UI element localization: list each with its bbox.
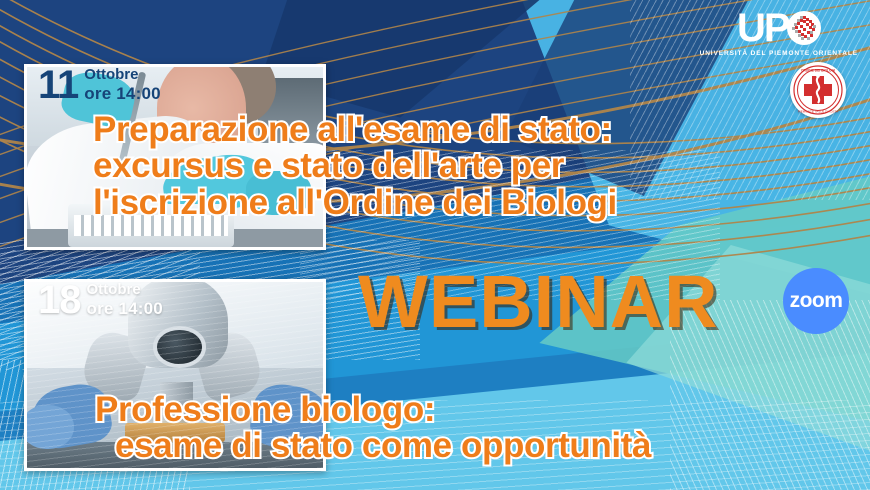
event-date-badge-2: 18 Ottobre ore 14:00	[38, 281, 163, 319]
headline-1-line-2: excursus e stato dell'arte per	[93, 148, 863, 184]
event-headline-2: Professione biologo: esame di stato come…	[95, 392, 865, 465]
zoom-logo-icon: zoom	[783, 268, 849, 334]
event-headline-1: Preparazione all'esame di stato: excursu…	[93, 112, 863, 221]
headline-1-line-3: l'iscrizione all'Ordine dei Biologi	[93, 185, 863, 221]
upo-wordmark: UP	[737, 8, 789, 48]
svg-text:ORDINE DEI BIOLOGI: ORDINE DEI BIOLOGI	[801, 69, 835, 73]
upo-logo: UP	[700, 8, 858, 57]
webinar-poster: 11 Ottobre ore 14:00 18 Ottobre ore 14:0…	[0, 0, 870, 490]
headline-2-line-1: Professione biologo:	[95, 392, 865, 428]
headline-2-line-2: esame di stato come opportunità	[95, 428, 865, 464]
upo-subtitle: UNIVERSITÀ DEL PIEMONTE ORIENTALE	[700, 50, 858, 57]
ordine-dei-biologi-seal-icon: ORDINE DEI BIOLOGI PIEMONTE VALLE D'AOST…	[790, 62, 846, 118]
event-time-1: ore 14:00	[84, 84, 160, 103]
headline-1-line-1: Preparazione all'esame di stato:	[93, 112, 863, 148]
event-day-2: 18	[38, 281, 81, 319]
piemonte-map-icon	[787, 11, 821, 45]
event-day-1: 11	[38, 66, 78, 104]
webinar-label: WEBINAR	[358, 265, 719, 339]
event-time-2: ore 14:00	[87, 299, 163, 318]
event-date-badge-1: 11 Ottobre ore 14:00	[38, 66, 161, 104]
event-month-2: Ottobre	[87, 282, 163, 299]
zoom-wordmark: zoom	[790, 289, 843, 313]
svg-text:PIEMONTE VALLE D'AOSTA: PIEMONTE VALLE D'AOSTA	[798, 110, 839, 114]
event-month-1: Ottobre	[84, 67, 160, 84]
